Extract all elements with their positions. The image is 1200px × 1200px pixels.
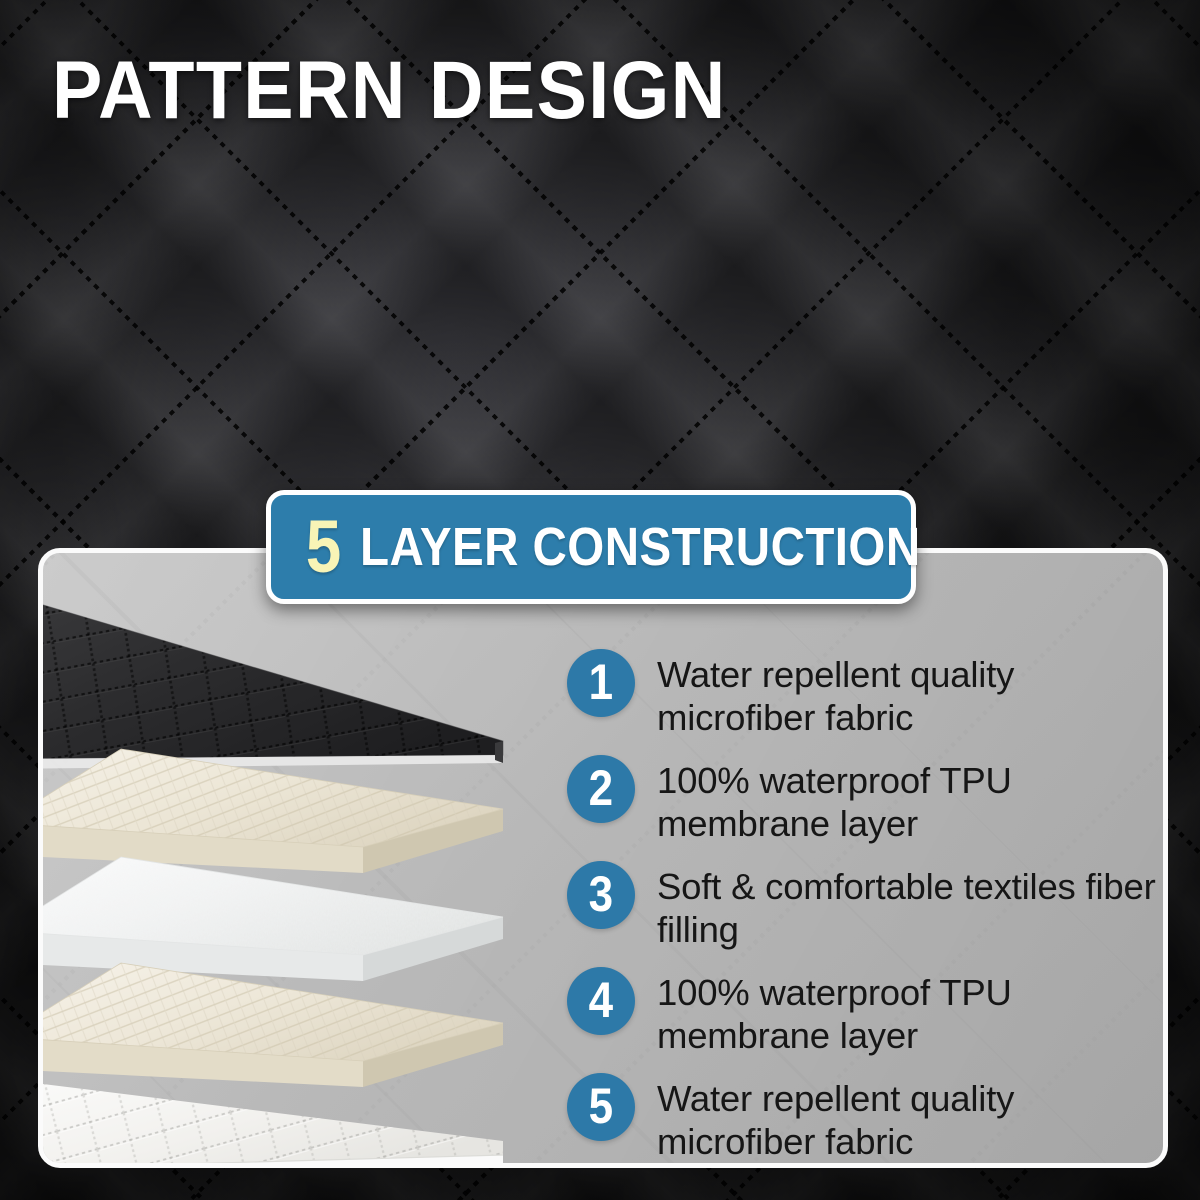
list-item: 3 Soft & comfortable textiles fiber fill…	[567, 865, 1167, 971]
layer-number-badge-5: 5	[567, 1073, 635, 1141]
layer-construction-badge: 5 LAYER CONSTRUCTION	[266, 490, 916, 604]
layer-description-3: Soft & comfortable textiles fiber fillin…	[657, 865, 1167, 951]
layer-number-badge-3: 3	[567, 861, 635, 929]
layer-description-4: 100% waterproof TPU membrane layer	[657, 971, 1167, 1057]
layer-number-badge-1: 1	[567, 649, 635, 717]
layer-stack-illustration	[43, 553, 513, 1163]
list-item: 4 100% waterproof TPU membrane layer	[567, 971, 1167, 1077]
layer-number-3: 3	[589, 869, 613, 919]
layer-number-4: 4	[589, 975, 613, 1025]
layer-number-2: 2	[589, 763, 613, 813]
layer-description-1: Water repellent quality microfiber fabri…	[657, 653, 1167, 739]
layer-description-5: Water repellent quality microfiber fabri…	[657, 1077, 1167, 1163]
badge-label: LAYER CONSTRUCTION	[360, 520, 921, 574]
layer-number-badge-2: 2	[567, 755, 635, 823]
layer-number-1: 1	[589, 657, 613, 707]
badge-number: 5	[306, 510, 341, 584]
infographic-canvas: PATTERN DESIGN	[0, 0, 1200, 1200]
list-item: 1 Water repellent quality microfiber fab…	[567, 653, 1167, 759]
list-item: 2 100% waterproof TPU membrane layer	[567, 759, 1167, 865]
layer-list: 1 Water repellent quality microfiber fab…	[567, 653, 1167, 1168]
layer-swatch-5-white-quilted	[38, 1059, 513, 1168]
list-item: 5 Water repellent quality microfiber fab…	[567, 1077, 1167, 1168]
layer-number-5: 5	[589, 1081, 613, 1131]
layer-number-badge-4: 4	[567, 967, 635, 1035]
page-title: PATTERN DESIGN	[52, 52, 727, 130]
layer-construction-panel: 1 Water repellent quality microfiber fab…	[38, 548, 1168, 1168]
layer-description-2: 100% waterproof TPU membrane layer	[657, 759, 1167, 845]
